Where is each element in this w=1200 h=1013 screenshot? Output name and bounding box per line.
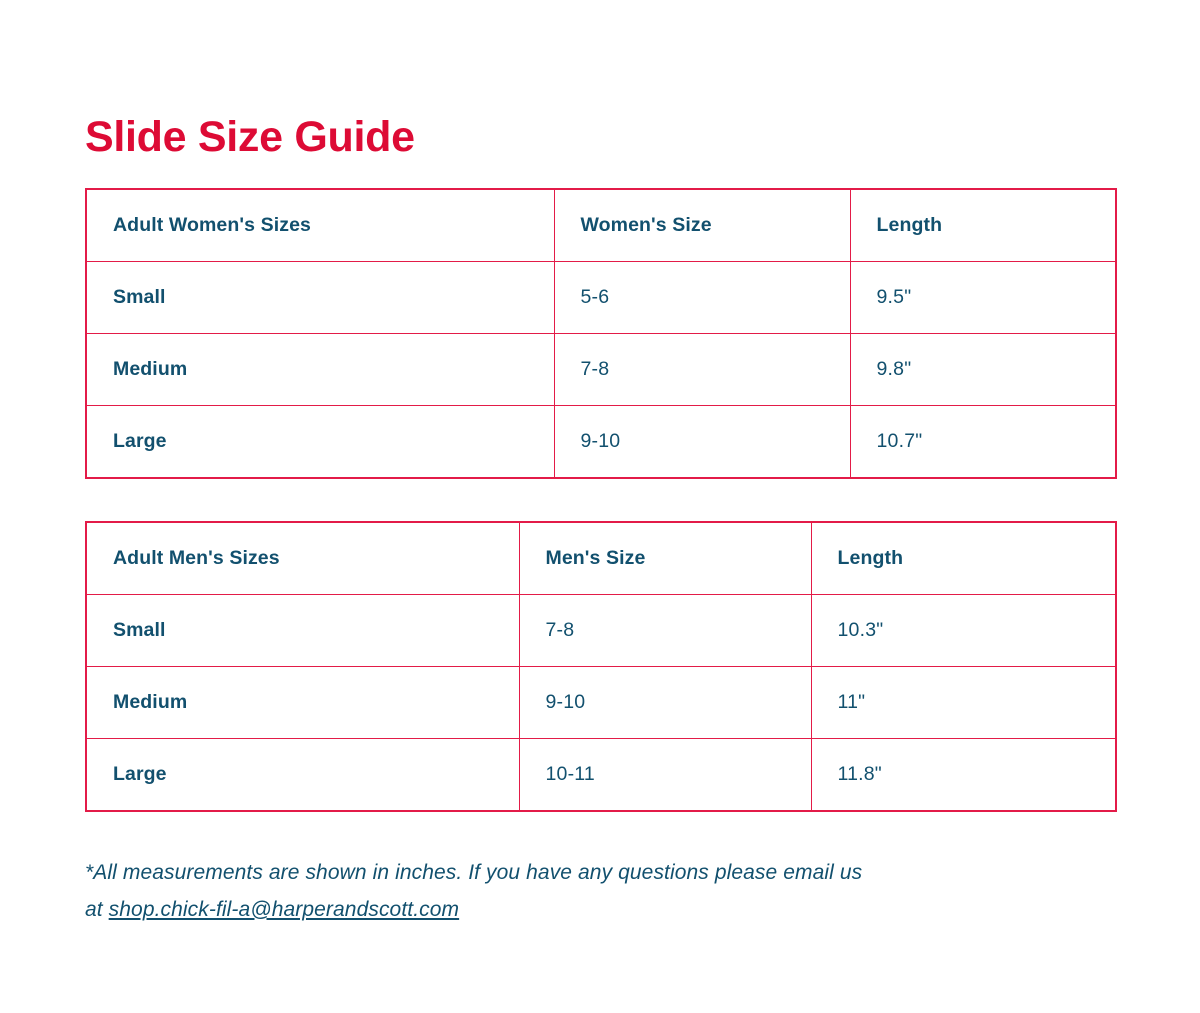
row-label: Large xyxy=(86,406,554,479)
table-row: Small 7-8 10.3" xyxy=(86,595,1116,667)
womens-size-table: Adult Women's Sizes Women's Size Length … xyxy=(85,188,1117,479)
cell-size: 10-11 xyxy=(519,739,811,812)
row-label: Small xyxy=(86,595,519,667)
column-header-length: Length xyxy=(811,522,1116,595)
table-header-row: Adult Men's Sizes Men's Size Length xyxy=(86,522,1116,595)
row-label: Large xyxy=(86,739,519,812)
table-row: Medium 9-10 11" xyxy=(86,667,1116,739)
row-label: Small xyxy=(86,262,554,334)
footnote: *All measurements are shown in inches. I… xyxy=(85,855,1045,929)
table-row: Large 9-10 10.7" xyxy=(86,406,1116,479)
footnote-line-2-prefix: at xyxy=(85,898,109,921)
page-title: Slide Size Guide xyxy=(85,115,415,160)
row-label: Medium xyxy=(86,667,519,739)
cell-size: 7-8 xyxy=(554,334,850,406)
cell-length: 11.8" xyxy=(811,739,1116,812)
table-row: Medium 7-8 9.8" xyxy=(86,334,1116,406)
cell-size: 9-10 xyxy=(554,406,850,479)
cell-length: 11" xyxy=(811,667,1116,739)
cell-size: 9-10 xyxy=(519,667,811,739)
cell-length: 10.3" xyxy=(811,595,1116,667)
cell-length: 9.5" xyxy=(850,262,1116,334)
mens-size-table: Adult Men's Sizes Men's Size Length Smal… xyxy=(85,521,1117,812)
table-row: Large 10-11 11.8" xyxy=(86,739,1116,812)
column-header-category: Adult Women's Sizes xyxy=(86,189,554,262)
size-guide-page: Slide Size Guide Adult Women's Sizes Wom… xyxy=(0,0,1200,1013)
footnote-line-1: *All measurements are shown in inches. I… xyxy=(85,861,862,884)
table-row: Small 5-6 9.5" xyxy=(86,262,1116,334)
cell-size: 7-8 xyxy=(519,595,811,667)
column-header-size: Men's Size xyxy=(519,522,811,595)
cell-length: 10.7" xyxy=(850,406,1116,479)
column-header-category: Adult Men's Sizes xyxy=(86,522,519,595)
table-header-row: Adult Women's Sizes Women's Size Length xyxy=(86,189,1116,262)
column-header-size: Women's Size xyxy=(554,189,850,262)
row-label: Medium xyxy=(86,334,554,406)
cell-size: 5-6 xyxy=(554,262,850,334)
cell-length: 9.8" xyxy=(850,334,1116,406)
column-header-length: Length xyxy=(850,189,1116,262)
support-email-link[interactable]: shop.chick-fil-a@harperandscott.com xyxy=(109,898,459,921)
